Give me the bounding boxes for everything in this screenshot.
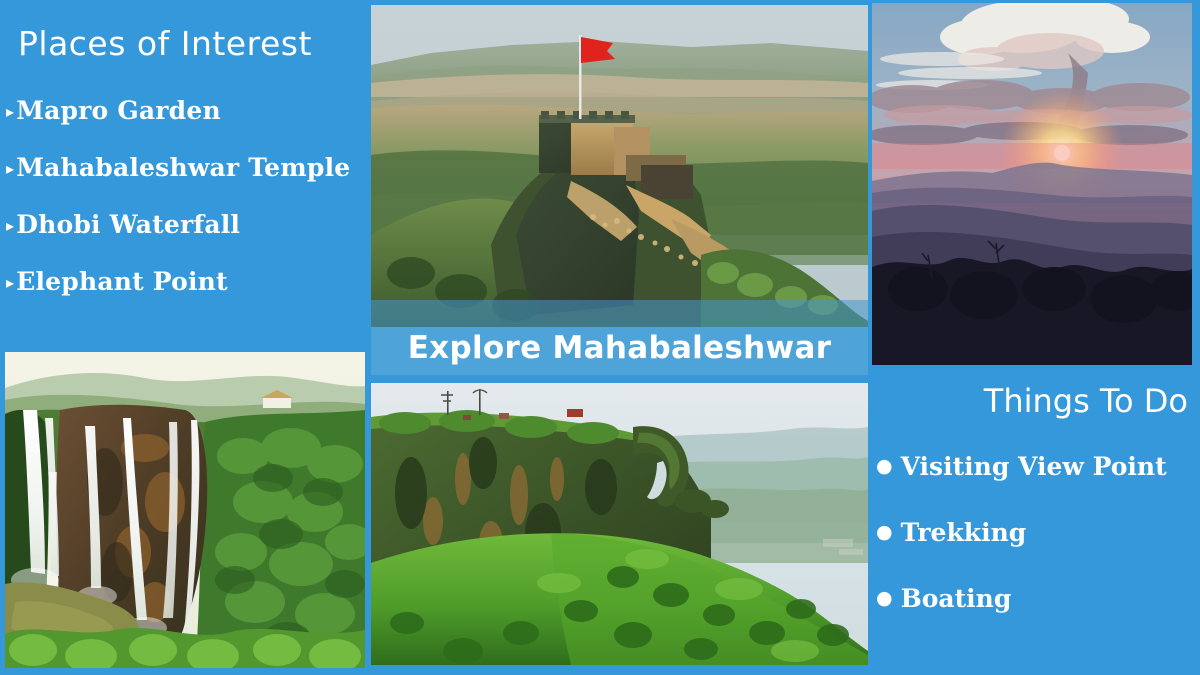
- list-item-label: Trekking: [901, 518, 1027, 547]
- fort-photo: [371, 5, 868, 327]
- triangle-bullet-icon: ▸: [6, 275, 14, 291]
- waterfall-photo: [5, 352, 365, 668]
- triangle-bullet-icon: ▸: [6, 218, 14, 234]
- dot-bullet-icon: ●: [876, 457, 893, 476]
- list-item[interactable]: ● Visiting View Point: [876, 452, 1196, 518]
- places-of-interest-list: ▸ Mapro Garden ▸ Mahabaleshwar Temple ▸ …: [6, 96, 370, 324]
- sunset-photo: [872, 3, 1192, 365]
- list-item[interactable]: ● Trekking: [876, 518, 1196, 584]
- list-item-label: Boating: [901, 584, 1012, 613]
- poster-root: Places of Interest ▸ Mapro Garden ▸ Maha…: [0, 0, 1200, 675]
- places-of-interest-heading: Places of Interest: [18, 24, 368, 63]
- list-item-label: Dhobi Waterfall: [16, 210, 240, 239]
- things-to-do-heading: Things To Do: [984, 382, 1188, 420]
- elephant-point-photo: [371, 383, 868, 665]
- list-item[interactable]: ▸ Elephant Point: [6, 267, 370, 324]
- list-item[interactable]: ▸ Mapro Garden: [6, 96, 370, 153]
- list-item[interactable]: ● Boating: [876, 584, 1196, 650]
- list-item-label: Elephant Point: [16, 267, 228, 296]
- caption-banner-fade: [371, 300, 868, 330]
- list-item[interactable]: ▸ Dhobi Waterfall: [6, 210, 370, 267]
- triangle-bullet-icon: ▸: [6, 161, 14, 177]
- list-item-label: Visiting View Point: [901, 452, 1167, 481]
- list-item-label: Mahabaleshwar Temple: [16, 153, 350, 182]
- triangle-bullet-icon: ▸: [6, 104, 14, 120]
- explore-mahabaleshwar-caption: Explore Mahabaleshwar: [371, 330, 868, 366]
- list-item[interactable]: ▸ Mahabaleshwar Temple: [6, 153, 370, 210]
- list-item-label: Mapro Garden: [16, 96, 221, 125]
- dot-bullet-icon: ●: [876, 523, 893, 542]
- things-to-do-list: ● Visiting View Point ● Trekking ● Boati…: [876, 452, 1196, 650]
- dot-bullet-icon: ●: [876, 589, 893, 608]
